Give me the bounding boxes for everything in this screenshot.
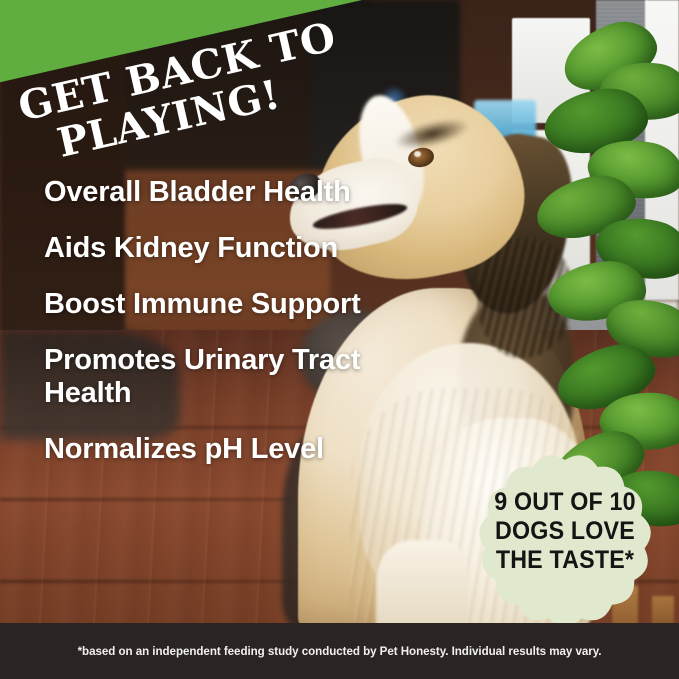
dog-eye-highlight bbox=[414, 151, 421, 157]
benefit-item: Aids Kidney Function bbox=[44, 232, 374, 265]
disclaimer-bar: *based on an independent feeding study c… bbox=[0, 623, 679, 679]
badge-line-3: THE TASTE* bbox=[473, 546, 657, 575]
benefit-item: Overall Bladder Health bbox=[44, 176, 374, 209]
benefit-item: Promotes Urinary Tract Health bbox=[44, 344, 374, 410]
benefit-item: Normalizes pH Level bbox=[44, 433, 374, 466]
benefits-list: Overall Bladder Health Aids Kidney Funct… bbox=[44, 176, 374, 489]
badge-line-1: 9 OUT OF 10 bbox=[473, 488, 657, 517]
badge-text: 9 OUT OF 10 DOGS LOVE THE TASTE* bbox=[473, 488, 657, 575]
taste-badge: 9 OUT OF 10 DOGS LOVE THE TASTE* bbox=[466, 444, 664, 636]
ad-creative: GET BACK TO PLAYING! Overall Bladder Hea… bbox=[0, 0, 679, 679]
badge-line-2: DOGS LOVE bbox=[473, 517, 657, 546]
benefit-item: Boost Immune Support bbox=[44, 288, 374, 321]
disclaimer-text: *based on an independent feeding study c… bbox=[78, 645, 602, 658]
